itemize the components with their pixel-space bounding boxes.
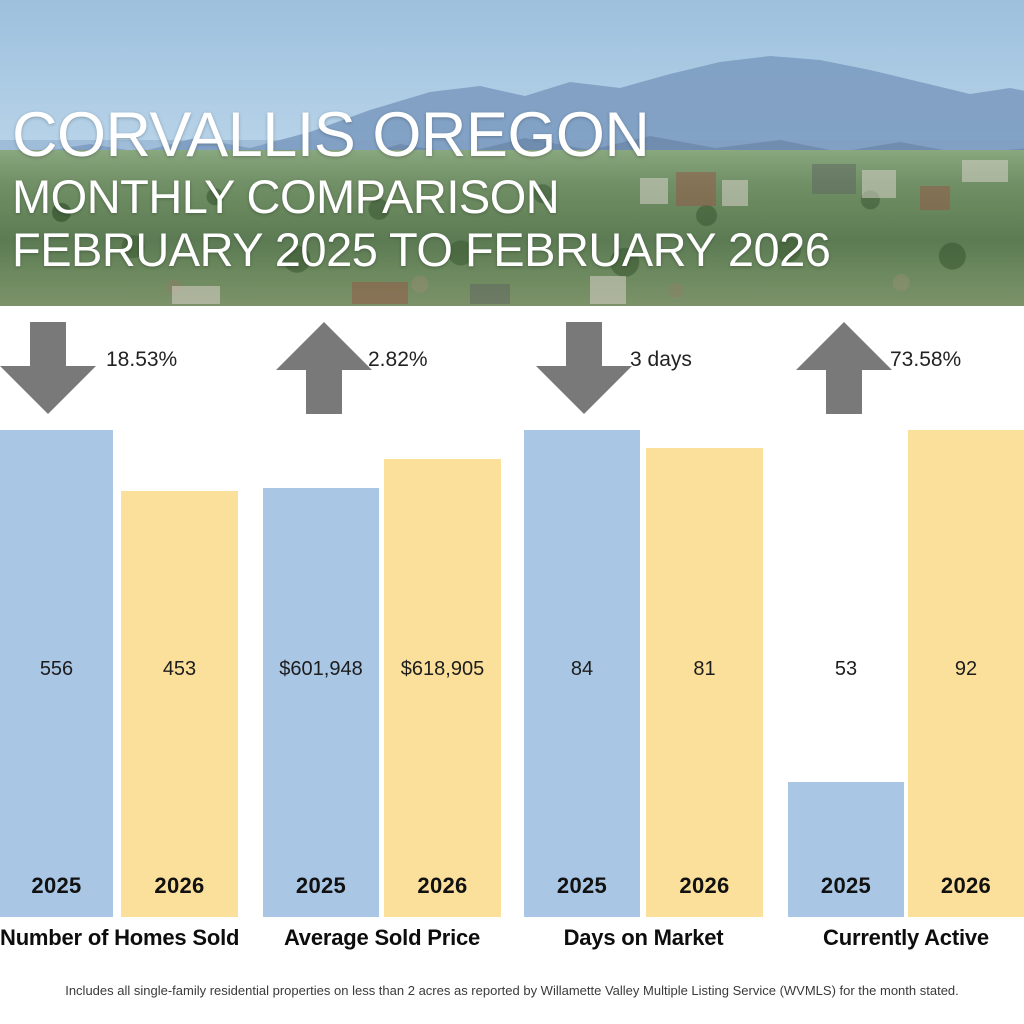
delta-group-homes-sold: 18.53% — [0, 306, 256, 430]
bar-value-2025-currently-active: 53 — [788, 658, 904, 681]
bar-chart: 556 453 2025 2026 $601,948 $618,905 2025… — [0, 430, 1024, 917]
arrow-up-icon — [276, 322, 372, 414]
arrow-down-icon — [536, 322, 632, 414]
bar-2026-avg-price[interactable] — [384, 459, 501, 917]
delta-group-currently-active: 73.58% — [768, 306, 1024, 430]
delta-value-days-on-market: 3 days — [630, 348, 692, 372]
delta-value-homes-sold: 18.53% — [106, 348, 177, 372]
delta-group-avg-price: 2.82% — [256, 306, 512, 430]
bar-value-2025-avg-price: $601,948 — [263, 658, 379, 681]
building-block — [590, 276, 626, 304]
building-block — [172, 286, 220, 304]
arrow-up-icon — [796, 322, 892, 414]
bar-value-2026-currently-active: 92 — [908, 658, 1024, 681]
building-block — [352, 282, 408, 304]
arrow-down-icon — [0, 322, 96, 414]
category-label-homes-sold: Number of Homes Sold — [0, 925, 238, 951]
bar-value-2025-homes-sold: 556 — [0, 658, 113, 681]
bar-value-2025-days-on-market: 84 — [524, 658, 640, 681]
hero-title-primary: CORVALLIS OREGON — [12, 104, 1012, 167]
bar-year-2026-avg-price: 2026 — [384, 873, 501, 899]
bar-year-2025-homes-sold: 2025 — [0, 873, 113, 899]
delta-value-avg-price: 2.82% — [368, 348, 428, 372]
hero-title-block: CORVALLIS OREGON MONTHLY COMPARISON FEBR… — [12, 104, 1012, 273]
category-label-currently-active: Currently Active — [788, 925, 1024, 951]
bar-year-2025-avg-price: 2025 — [263, 873, 379, 899]
bar-2025-avg-price[interactable] — [263, 488, 379, 917]
bar-value-2026-days-on-market: 81 — [646, 658, 763, 681]
bar-year-2026-days-on-market: 2026 — [646, 873, 763, 899]
bar-year-2025-days-on-market: 2025 — [524, 873, 640, 899]
hero-title-secondary: MONTHLY COMPARISON — [12, 173, 1012, 220]
building-block — [470, 284, 510, 304]
bar-2026-homes-sold[interactable] — [121, 491, 238, 917]
delta-group-days-on-market: 3 days — [512, 306, 768, 430]
bar-value-2026-avg-price: $618,905 — [384, 658, 501, 681]
bar-value-2026-homes-sold: 453 — [121, 658, 238, 681]
hero-title-daterange: FEBRUARY 2025 TO FEBRUARY 2026 — [12, 226, 1012, 273]
footnote-text: Includes all single-family residential p… — [0, 983, 1024, 998]
delta-value-currently-active: 73.58% — [890, 348, 961, 372]
bar-year-2025-currently-active: 2025 — [788, 873, 904, 899]
hero-photo: CORVALLIS OREGON MONTHLY COMPARISON FEBR… — [0, 0, 1024, 306]
category-label-days-on-market: Days on Market — [524, 925, 763, 951]
infographic-page: CORVALLIS OREGON MONTHLY COMPARISON FEBR… — [0, 0, 1024, 1024]
bar-year-2026-homes-sold: 2026 — [121, 873, 238, 899]
category-label-avg-price: Average Sold Price — [263, 925, 501, 951]
bar-year-2026-currently-active: 2026 — [908, 873, 1024, 899]
bar-2026-days-on-market[interactable] — [646, 448, 763, 917]
delta-strip: 18.53% 2.82% 3 days 73.58% — [0, 306, 1024, 430]
